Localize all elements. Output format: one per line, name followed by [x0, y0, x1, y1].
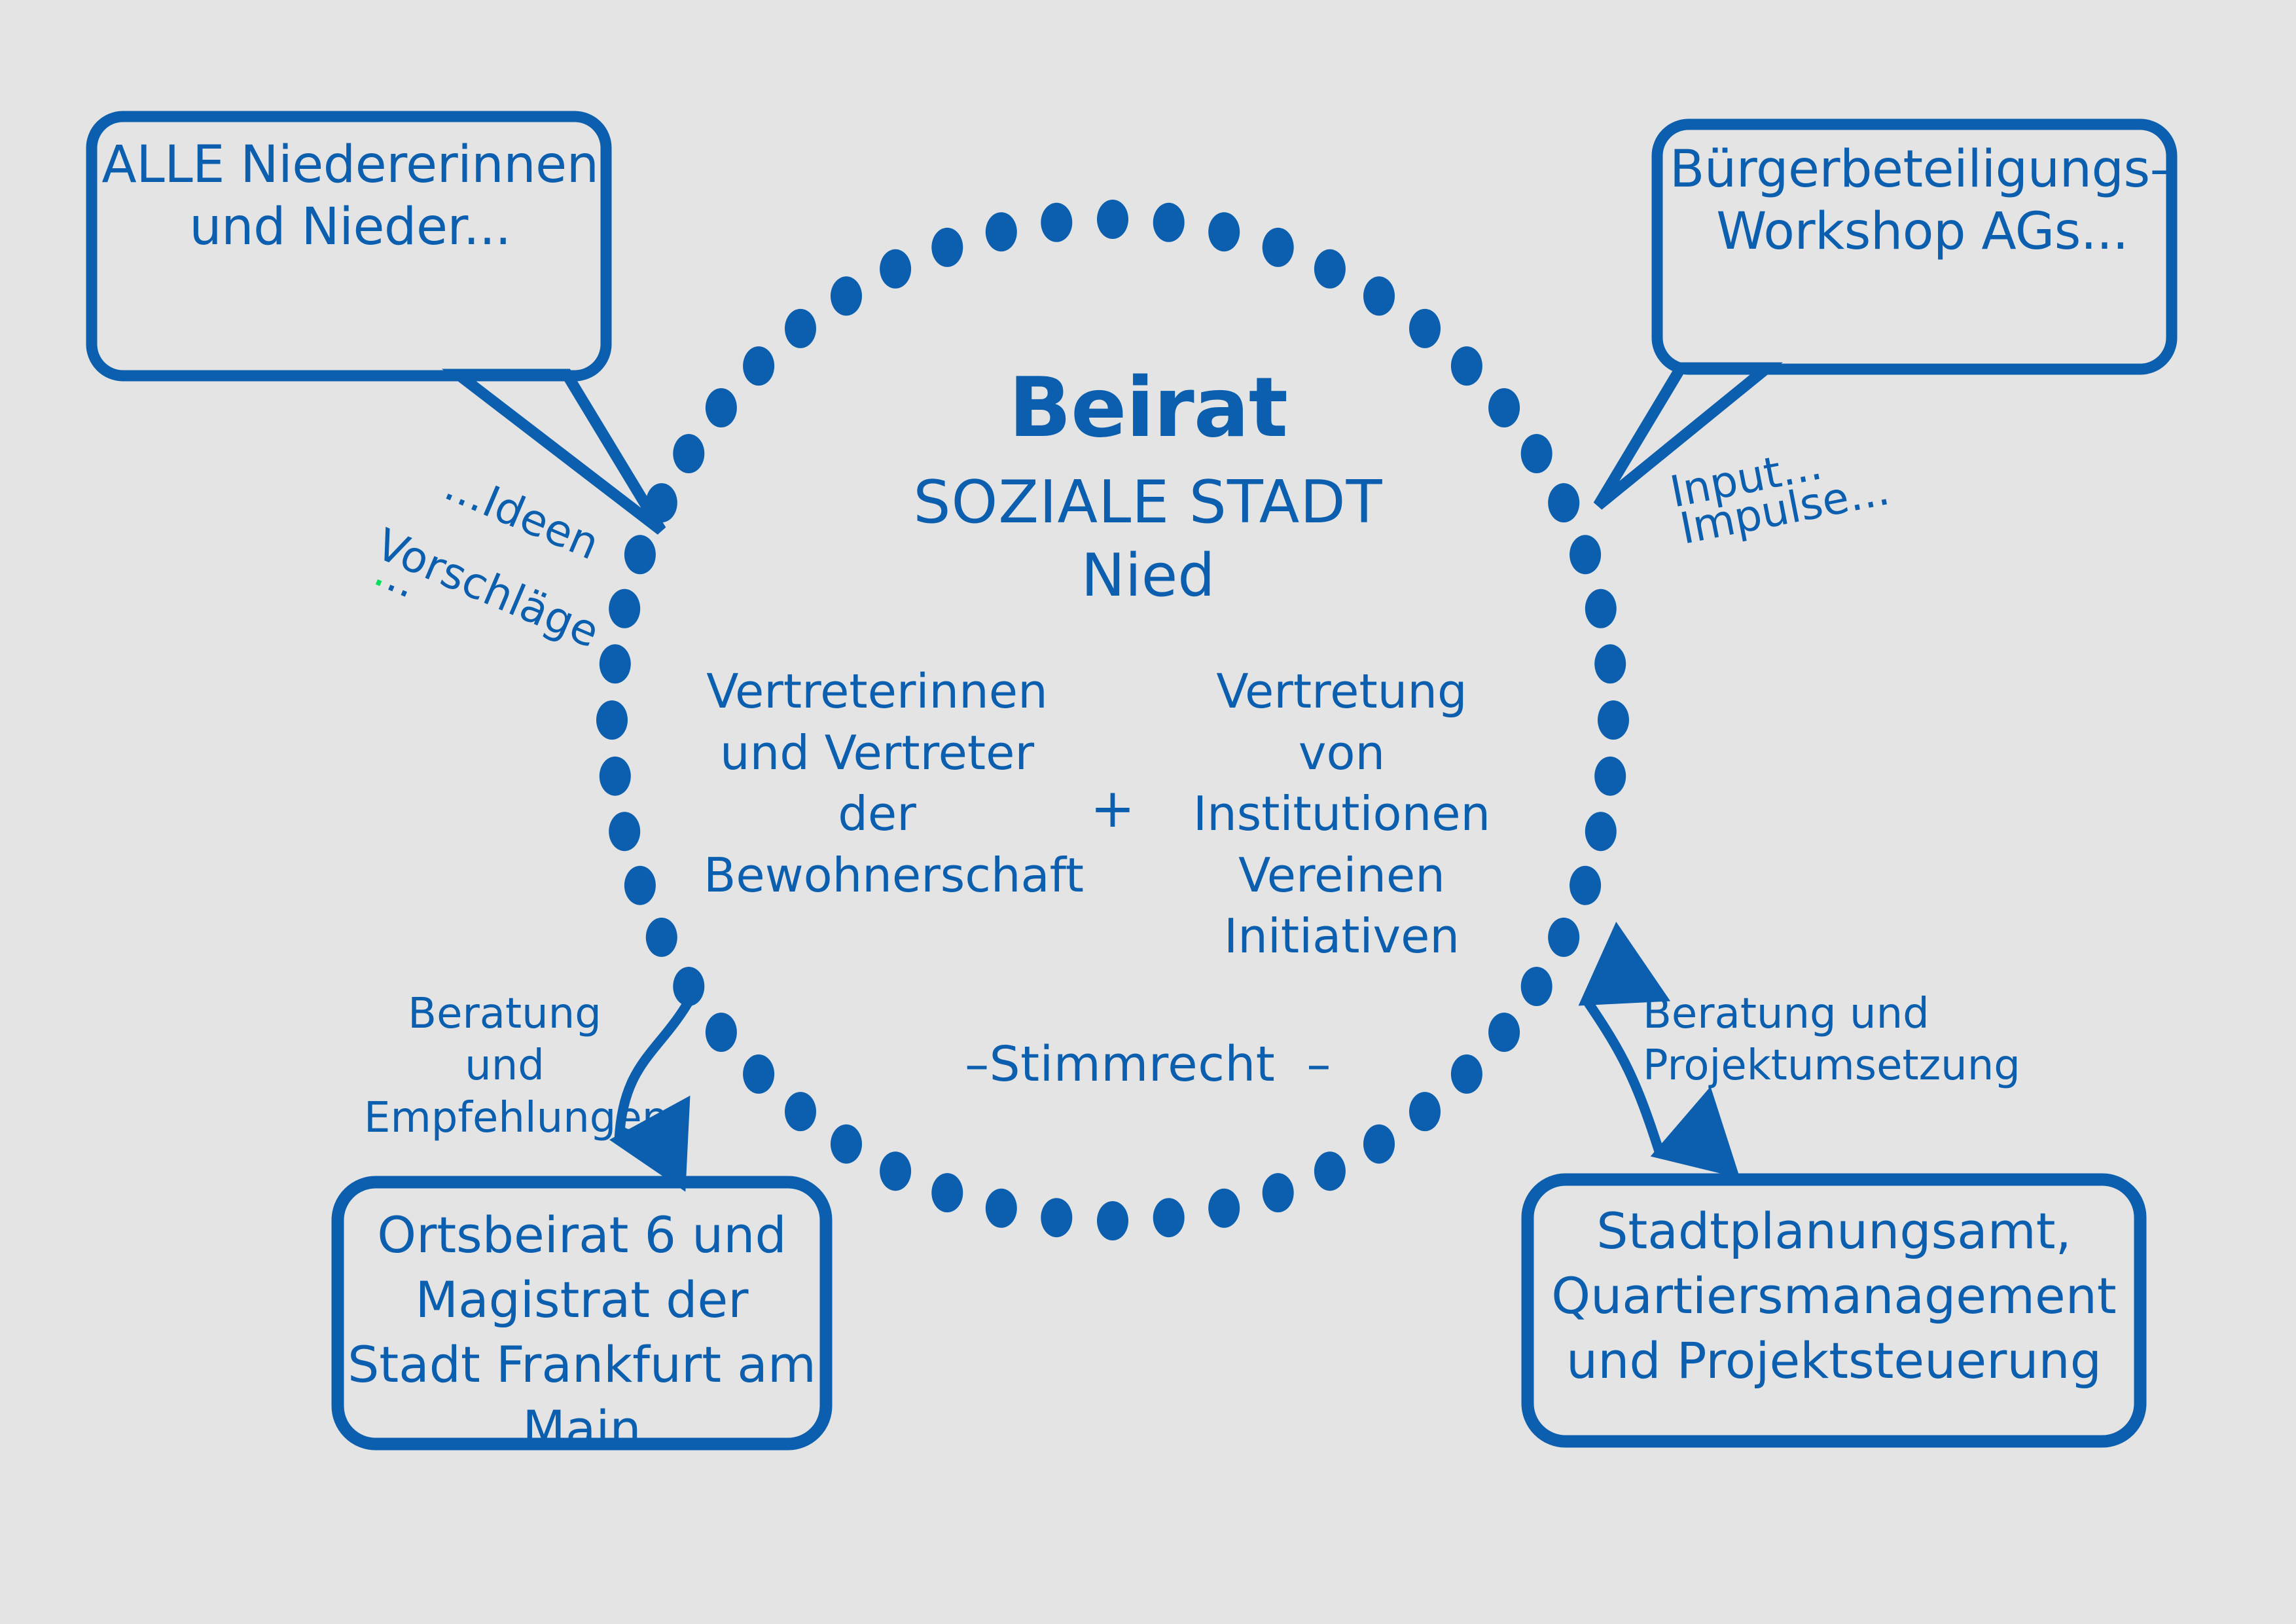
ring-dot [880, 249, 911, 289]
center-left-column: Vertreterinnen und Vertreter der Bewohne… [704, 661, 1050, 906]
ring-dot [1097, 200, 1128, 239]
ring-dot [1314, 249, 1346, 289]
box-ortsbeirat-label: Ortsbeirat 6 und Magistrat der Stadt Fra… [343, 1203, 821, 1462]
ring-dot [1041, 1198, 1072, 1237]
ring-dot [831, 1125, 862, 1164]
ring-dot [785, 1092, 816, 1131]
ring-dot [1594, 757, 1626, 796]
ring-dot [1594, 644, 1626, 683]
ring-dot [1263, 228, 1294, 267]
ring-dot [1363, 1125, 1395, 1164]
ring-dot [646, 918, 677, 957]
ring-dot [1097, 1201, 1128, 1240]
ring-dot [600, 644, 631, 683]
plus-operator: + [1067, 778, 1158, 840]
ring-dot [1208, 212, 1240, 251]
ring-dot [880, 1151, 911, 1191]
ring-dot [1409, 1092, 1441, 1131]
ring-dot [986, 212, 1017, 251]
ring-dot [831, 276, 862, 316]
ring-dot [1585, 812, 1617, 851]
ring-dot [1041, 203, 1072, 242]
ring-dot [1409, 309, 1441, 348]
annotation-beratung-projektumsetzung: Beratung und Projektumsetzung [1643, 988, 1964, 1092]
ring-dot [1363, 276, 1395, 316]
ring-dot [624, 866, 656, 905]
ring-dot [1548, 918, 1579, 957]
center-right-column: Vertretung von Institutionen Vereinen In… [1178, 661, 1505, 967]
ring-dot [986, 1189, 1017, 1228]
ring-dot [785, 309, 816, 348]
ring-dot [596, 700, 628, 740]
ring-dot [931, 1173, 963, 1212]
page-title: Beirat [0, 361, 2296, 454]
ring-dot [931, 228, 963, 267]
speech-bubble-residents-label: ALLE Niedererinnen und Nieder... [98, 134, 602, 259]
box-stadtplanungsamt-label: Stadtplanungsamt, Quartiersmanagement un… [1533, 1199, 2135, 1393]
ring-dot [609, 812, 640, 851]
ring-dot [1153, 1198, 1185, 1237]
ring-dot [1153, 203, 1185, 242]
annotation-beratung-empfehlungen: Beratung und Empfehlungen [364, 988, 645, 1144]
speech-bubble-participation-label: Bürgerbeteiligungs– Workshop AGs... [1664, 139, 2181, 263]
ring-dot [1570, 866, 1601, 905]
ring-dot [1263, 1173, 1294, 1212]
ring-dot [1598, 700, 1629, 740]
diagram-canvas: ALLE Niedererinnen und Nieder... Bürgerb… [0, 0, 2296, 1624]
ring-dot [1314, 1151, 1346, 1191]
ring-dot [600, 757, 631, 796]
ring-dot [1521, 967, 1552, 1006]
ring-dot [1208, 1189, 1240, 1228]
